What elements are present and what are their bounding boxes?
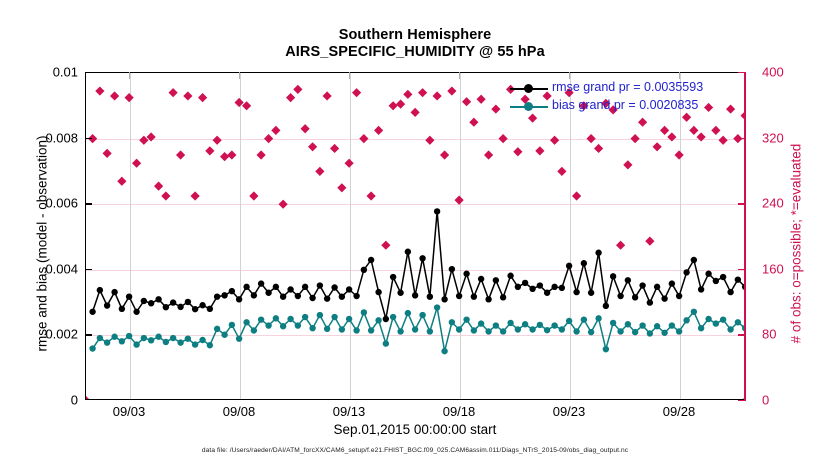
series-marker [258, 316, 264, 322]
series-marker [478, 320, 484, 326]
series-marker [243, 284, 249, 290]
series-marker [625, 321, 631, 327]
series-marker [397, 328, 403, 334]
series-marker [405, 310, 411, 316]
series-marker [720, 316, 726, 322]
series-marker [522, 280, 528, 286]
obs-marker [198, 93, 207, 102]
y-tick-mark-right [738, 203, 745, 204]
series-marker [661, 330, 667, 336]
series-marker [170, 335, 176, 341]
series-marker [324, 326, 330, 332]
series-marker [214, 293, 220, 299]
series-marker [375, 317, 381, 323]
series-marker [507, 320, 513, 326]
series-marker [559, 285, 565, 291]
series-marker [595, 315, 601, 321]
series-marker [705, 271, 711, 277]
series-marker [573, 328, 579, 334]
series-marker [463, 271, 469, 277]
series-marker [471, 293, 477, 299]
x-tick-mark [679, 72, 680, 79]
series-marker [368, 257, 374, 263]
series-marker [302, 284, 308, 290]
y-tick-label-right: 320 [762, 130, 784, 145]
series-marker [119, 338, 125, 344]
obs-marker [697, 132, 706, 141]
series-marker [309, 295, 315, 301]
series-marker [236, 296, 242, 302]
series-marker [397, 290, 403, 296]
y-tick-label-right: 240 [762, 196, 784, 211]
series-marker [515, 326, 521, 332]
series-marker [170, 299, 176, 305]
obs-marker [462, 97, 471, 106]
obs-marker [381, 241, 390, 250]
series-marker [559, 326, 565, 332]
series-marker [339, 326, 345, 332]
chart-title-line2: AIRS_SPECIFIC_HUMIDITY @ 55 hPa [0, 44, 830, 60]
obs-marker [550, 136, 559, 145]
series-marker [221, 332, 227, 338]
series-marker [573, 289, 579, 295]
obs-marker [667, 132, 676, 141]
chart-title-line1: Southern Hemisphere [0, 27, 830, 43]
series-marker [236, 335, 242, 341]
series-marker [390, 314, 396, 320]
obs-marker [161, 191, 170, 200]
legend-marker-icon [524, 84, 533, 93]
chart-canvas: Southern Hemisphere AIRS_SPECIFIC_HUMIDI… [0, 0, 830, 470]
legend-label: bias grand pr = 0.0020835 [552, 98, 698, 112]
x-tick-label: 09/23 [553, 404, 586, 419]
legend-marker-icon [524, 102, 533, 111]
y-tick-label-right: 80 [762, 327, 776, 342]
x-tick-mark [459, 72, 460, 79]
series-marker [471, 327, 477, 333]
series-marker [265, 290, 271, 296]
series-marker [691, 257, 697, 263]
obs-marker [103, 149, 112, 158]
series-marker [735, 276, 741, 282]
series-marker [163, 339, 169, 345]
obs-marker [330, 144, 339, 153]
y-tick-label-left: 0.006 [45, 196, 78, 211]
obs-marker [491, 104, 500, 113]
series-marker [639, 322, 645, 328]
series-marker [111, 334, 117, 340]
series-marker [544, 290, 550, 296]
series-marker [610, 273, 616, 279]
series-marker [295, 322, 301, 328]
series-marker [412, 326, 418, 332]
y-tick-label-left: 0 [71, 393, 78, 408]
series-marker [669, 280, 675, 286]
series-marker [588, 329, 594, 335]
series-marker [133, 341, 139, 347]
series-marker [111, 289, 117, 295]
series-marker [339, 293, 345, 299]
series-marker [89, 309, 95, 315]
series-marker [500, 294, 506, 300]
y-tick-mark-left [85, 203, 92, 204]
series-marker [251, 327, 257, 333]
series-marker [155, 334, 161, 340]
series-marker [302, 314, 308, 320]
obs-marker [594, 144, 603, 153]
y-tick-mark-left [85, 334, 92, 335]
series-marker [390, 274, 396, 280]
series-marker [691, 309, 697, 315]
series-marker [331, 284, 337, 290]
series-marker [713, 320, 719, 326]
x-axis-label: Sep.01,2015 00:00:00 start [0, 422, 830, 437]
obs-marker [389, 101, 398, 110]
series-marker [515, 284, 521, 290]
series-marker [89, 345, 95, 351]
y-tick-mark-right [738, 334, 745, 335]
series-marker [273, 284, 279, 290]
series-marker [485, 296, 491, 302]
series-marker [177, 304, 183, 310]
obs-marker [359, 134, 368, 143]
x-tick-mark [129, 72, 130, 79]
y-tick-mark-left [85, 269, 92, 270]
chart-legend: rmse grand pr = 0.0035593bias grand pr =… [505, 80, 755, 116]
obs-marker [337, 183, 346, 192]
series-marker [478, 276, 484, 282]
series-marker [603, 303, 609, 309]
series-marker [199, 302, 205, 308]
x-tick-label: 09/18 [443, 404, 476, 419]
y-tick-mark-right [738, 138, 745, 139]
series-marker [104, 339, 110, 345]
series-marker [449, 319, 455, 325]
obs-marker [403, 90, 412, 99]
obs-marker [95, 86, 104, 95]
data-series-layer [86, 73, 744, 399]
series-marker [456, 326, 462, 332]
series-marker [537, 322, 543, 328]
series-marker [529, 326, 535, 332]
obs-marker [271, 126, 280, 135]
x-tick-mark [349, 72, 350, 79]
series-marker [265, 322, 271, 328]
series-marker [632, 294, 638, 300]
series-bias [89, 304, 744, 354]
obs-marker [301, 124, 310, 133]
obs-marker [132, 159, 141, 168]
series-marker [727, 326, 733, 332]
plot-inner [86, 73, 744, 399]
obs-marker [616, 241, 625, 250]
series-rmse [89, 208, 744, 322]
series-marker [485, 328, 491, 334]
series-marker [287, 316, 293, 322]
obs-marker [279, 200, 288, 209]
obs-marker [660, 126, 669, 135]
series-marker [353, 327, 359, 333]
series-marker [126, 333, 132, 339]
series-marker [295, 293, 301, 299]
obs-marker [572, 191, 581, 200]
series-marker [551, 284, 557, 290]
obs-marker [286, 93, 295, 102]
obs-marker [264, 134, 273, 143]
obs-marker [213, 136, 222, 145]
y-tick-mark-right [738, 400, 745, 401]
series-marker [434, 304, 440, 310]
obs-marker [433, 91, 442, 100]
series-marker [185, 335, 191, 341]
series-marker [155, 296, 161, 302]
obs-marker [110, 91, 119, 100]
series-marker [317, 282, 323, 288]
series-marker [243, 319, 249, 325]
x-tick-mark [239, 72, 240, 79]
y-axis-label-left: rmse and bias (model - observation) [35, 94, 50, 394]
series-marker [346, 286, 352, 292]
series-marker [383, 316, 389, 322]
obs-marker [411, 108, 420, 117]
obs-marker [125, 93, 134, 102]
series-marker [192, 306, 198, 312]
legend-item[interactable]: rmse grand pr = 0.0035593 [505, 80, 755, 98]
obs-marker [447, 86, 456, 95]
plot-area [85, 72, 745, 400]
series-marker [361, 309, 367, 315]
series-marker [207, 342, 213, 348]
y-tick-mark-right [738, 269, 745, 270]
series-marker [595, 250, 601, 256]
series-marker [317, 312, 323, 318]
series-marker [441, 348, 447, 354]
y-tick-label-right: 400 [762, 65, 784, 80]
series-marker [353, 293, 359, 299]
obs-marker [249, 191, 258, 200]
series-marker [141, 335, 147, 341]
series-marker [133, 309, 139, 315]
obs-marker [293, 85, 302, 94]
series-marker [632, 329, 638, 335]
obs-marker [631, 134, 640, 143]
series-marker [720, 274, 726, 280]
y-tick-label-right: 160 [762, 261, 784, 276]
series-marker [522, 321, 528, 327]
obs-marker [645, 237, 654, 246]
obs-marker [227, 150, 236, 159]
series-marker [625, 277, 631, 283]
series-marker [229, 288, 235, 294]
series-marker [287, 286, 293, 292]
obs-marker [176, 150, 185, 159]
series-marker [537, 282, 543, 288]
obs-marker [675, 150, 684, 159]
legend-item[interactable]: bias grand pr = 0.0020835 [505, 98, 755, 116]
series-marker [185, 299, 191, 305]
obs-marker [638, 118, 647, 127]
series-marker [566, 263, 572, 269]
series-marker [581, 316, 587, 322]
obs-marker [499, 134, 508, 143]
series-marker [500, 328, 506, 334]
obs-marker [345, 159, 354, 168]
legend-label: rmse grand pr = 0.0035593 [552, 80, 703, 94]
obs-marker [257, 150, 266, 159]
obs-marker [535, 146, 544, 155]
series-marker [507, 273, 513, 279]
right-axis-spine [744, 72, 746, 401]
series-marker [280, 323, 286, 329]
series-marker [463, 316, 469, 322]
obs-marker [711, 126, 720, 135]
series-marker [148, 300, 154, 306]
series-marker [493, 322, 499, 328]
series-marker [683, 317, 689, 323]
obs-marker [477, 95, 486, 104]
series-marker [368, 327, 374, 333]
series-marker [309, 325, 315, 331]
series-marker [610, 320, 616, 326]
obs-marker [117, 177, 126, 186]
axis-endpoint-marker [86, 396, 91, 399]
series-marker [669, 322, 675, 328]
x-tick-label: 09/13 [333, 404, 366, 419]
series-marker [727, 289, 733, 295]
obs-marker [169, 88, 178, 97]
series-marker [229, 322, 235, 328]
series-marker [588, 290, 594, 296]
y-tick-label-left: 0.01 [53, 65, 78, 80]
y-tick-mark-left [85, 138, 92, 139]
y-axis-label-right: # of obs: o=possible; *=evaluated [789, 94, 804, 394]
x-tick-label: 09/03 [113, 404, 146, 419]
obs-marker [352, 88, 361, 97]
series-marker [698, 286, 704, 292]
series-marker [647, 330, 653, 336]
y-tick-mark-right [738, 72, 745, 73]
obs-marker [191, 191, 200, 200]
series-marker [141, 298, 147, 304]
series-marker [647, 299, 653, 305]
series-marker [214, 326, 220, 332]
y-tick-mark-left [85, 72, 92, 73]
series-marker [603, 346, 609, 352]
series-marker [361, 267, 367, 273]
series-marker [581, 260, 587, 266]
obs-marker [220, 152, 229, 161]
series-marker [419, 255, 425, 261]
obs-marker [315, 167, 324, 176]
x-tick-mark [569, 72, 570, 79]
obs-marker [513, 147, 522, 156]
series-marker [405, 249, 411, 255]
series-marker [683, 269, 689, 275]
series-marker [199, 337, 205, 343]
data-file-caption: data file: /Users/raeder/DAI/ATM_forcXX/… [0, 447, 830, 454]
series-marker [427, 293, 433, 299]
obs-marker [205, 146, 214, 155]
series-marker [280, 293, 286, 299]
series-marker [676, 293, 682, 299]
series-marker [544, 327, 550, 333]
series-marker [126, 293, 132, 299]
obs-marker [557, 167, 566, 176]
series-marker [207, 306, 213, 312]
series-marker [654, 284, 660, 290]
series-marker [698, 325, 704, 331]
y-tick-label-left: 0.008 [45, 130, 78, 145]
series-marker [383, 340, 389, 346]
series-marker [676, 328, 682, 334]
series-marker [324, 295, 330, 301]
series-marker [419, 312, 425, 318]
obs-marker [689, 126, 698, 135]
series-marker [331, 314, 337, 320]
series-marker [713, 278, 719, 284]
series-marker [427, 328, 433, 334]
series-marker [529, 286, 535, 292]
series-marker [551, 322, 557, 328]
series-marker [148, 337, 154, 343]
series-marker [375, 289, 381, 295]
series-marker [97, 287, 103, 293]
obs-marker [469, 118, 478, 127]
series-marker [441, 296, 447, 302]
series-marker [456, 293, 462, 299]
series-marker [493, 277, 499, 283]
series-marker [104, 302, 110, 308]
obs-marker [374, 126, 383, 135]
series-marker [661, 295, 667, 301]
series-marker [119, 306, 125, 312]
obs-marker [653, 142, 662, 151]
series-marker [617, 293, 623, 299]
obs-marker [425, 136, 434, 145]
obs-marker [183, 91, 192, 100]
obs-marker [587, 134, 596, 143]
obs-marker [308, 142, 317, 151]
series-marker [163, 304, 169, 310]
y-tick-label-left: 0.002 [45, 327, 78, 342]
obs-marker [455, 196, 464, 205]
series-marker [566, 318, 572, 324]
obs-marker [396, 100, 405, 109]
series-marker [258, 280, 264, 286]
series-marker [412, 292, 418, 298]
obs-marker [440, 150, 449, 159]
series-marker [221, 292, 227, 298]
series-marker [346, 316, 352, 322]
series-marker [192, 341, 198, 347]
y-tick-label-left: 0.004 [45, 261, 78, 276]
obs-marker [367, 191, 376, 200]
y-tick-label-right: 0 [762, 393, 769, 408]
series-marker [639, 282, 645, 288]
obs-marker [484, 150, 493, 159]
series-marker [177, 339, 183, 345]
series-marker [705, 316, 711, 322]
obs-marker [719, 136, 728, 145]
x-tick-label: 09/28 [663, 404, 696, 419]
obs-marker [154, 182, 163, 191]
series-marker [617, 328, 623, 334]
series-marker [434, 208, 440, 214]
series-marker [273, 315, 279, 321]
obs-marker [323, 91, 332, 100]
series-marker [449, 266, 455, 272]
series-marker [654, 323, 660, 329]
